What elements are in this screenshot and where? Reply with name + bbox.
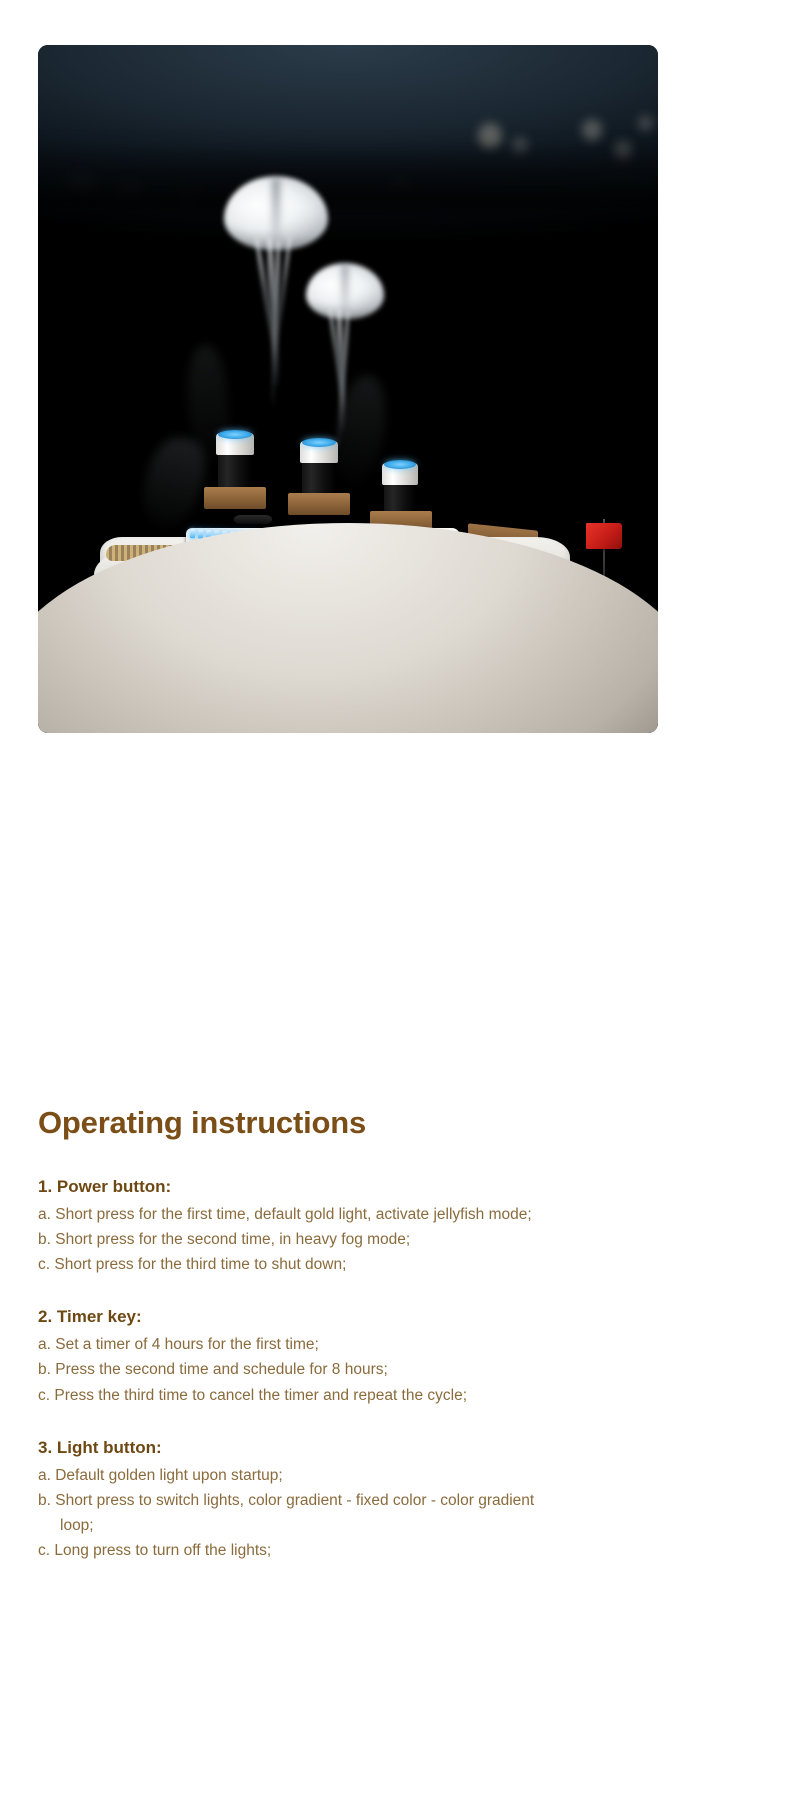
section-heading: 1. Power button: xyxy=(38,1177,762,1197)
instruction-line: b. Short press to switch lights, color g… xyxy=(38,1488,762,1513)
section-heading: 2. Timer key: xyxy=(38,1307,762,1327)
instruction-line-continuation: loop; xyxy=(38,1513,762,1538)
ship-funnel xyxy=(384,463,416,507)
section-heading: 3. Light button: xyxy=(38,1438,762,1458)
red-stern-flag xyxy=(586,523,622,549)
instruction-section-power: 1. Power button: a. Short press for the … xyxy=(38,1177,762,1277)
instruction-section-timer: 2. Timer key: a. Set a timer of 4 hours … xyxy=(38,1307,762,1407)
deck-crate xyxy=(288,493,350,515)
instruction-line: c. Long press to turn off the lights; xyxy=(38,1538,762,1563)
funnel-mist-outlet xyxy=(384,460,416,469)
instruction-line: a. Short press for the first time, defau… xyxy=(38,1202,762,1227)
lifeboat xyxy=(234,515,272,524)
instruction-line: a. Default golden light upon startup; xyxy=(38,1463,762,1488)
instruction-line: c. Press the third time to cancel the ti… xyxy=(38,1383,762,1408)
deck-crate xyxy=(204,487,266,509)
instruction-line: a. Set a timer of 4 hours for the first … xyxy=(38,1332,762,1357)
funnel-mist-outlet xyxy=(302,438,336,447)
porthole xyxy=(190,529,195,538)
product-photo: ⚓ ON xyxy=(38,45,658,733)
ship-funnel xyxy=(218,433,252,485)
instruction-line: b. Short press for the second time, in h… xyxy=(38,1227,762,1252)
product-photo-scene: ⚓ ON xyxy=(38,45,658,733)
funnel-mist-outlet xyxy=(218,430,252,439)
page-title: Operating instructions xyxy=(38,1105,762,1141)
instructions-content: Operating instructions 1. Power button: … xyxy=(38,1105,762,1563)
instruction-section-light: 3. Light button: a. Default golden light… xyxy=(38,1438,762,1563)
instruction-line: b. Press the second time and schedule fo… xyxy=(38,1357,762,1382)
instruction-line: c. Short press for the third time to shu… xyxy=(38,1252,762,1277)
ship-funnel xyxy=(302,441,336,491)
